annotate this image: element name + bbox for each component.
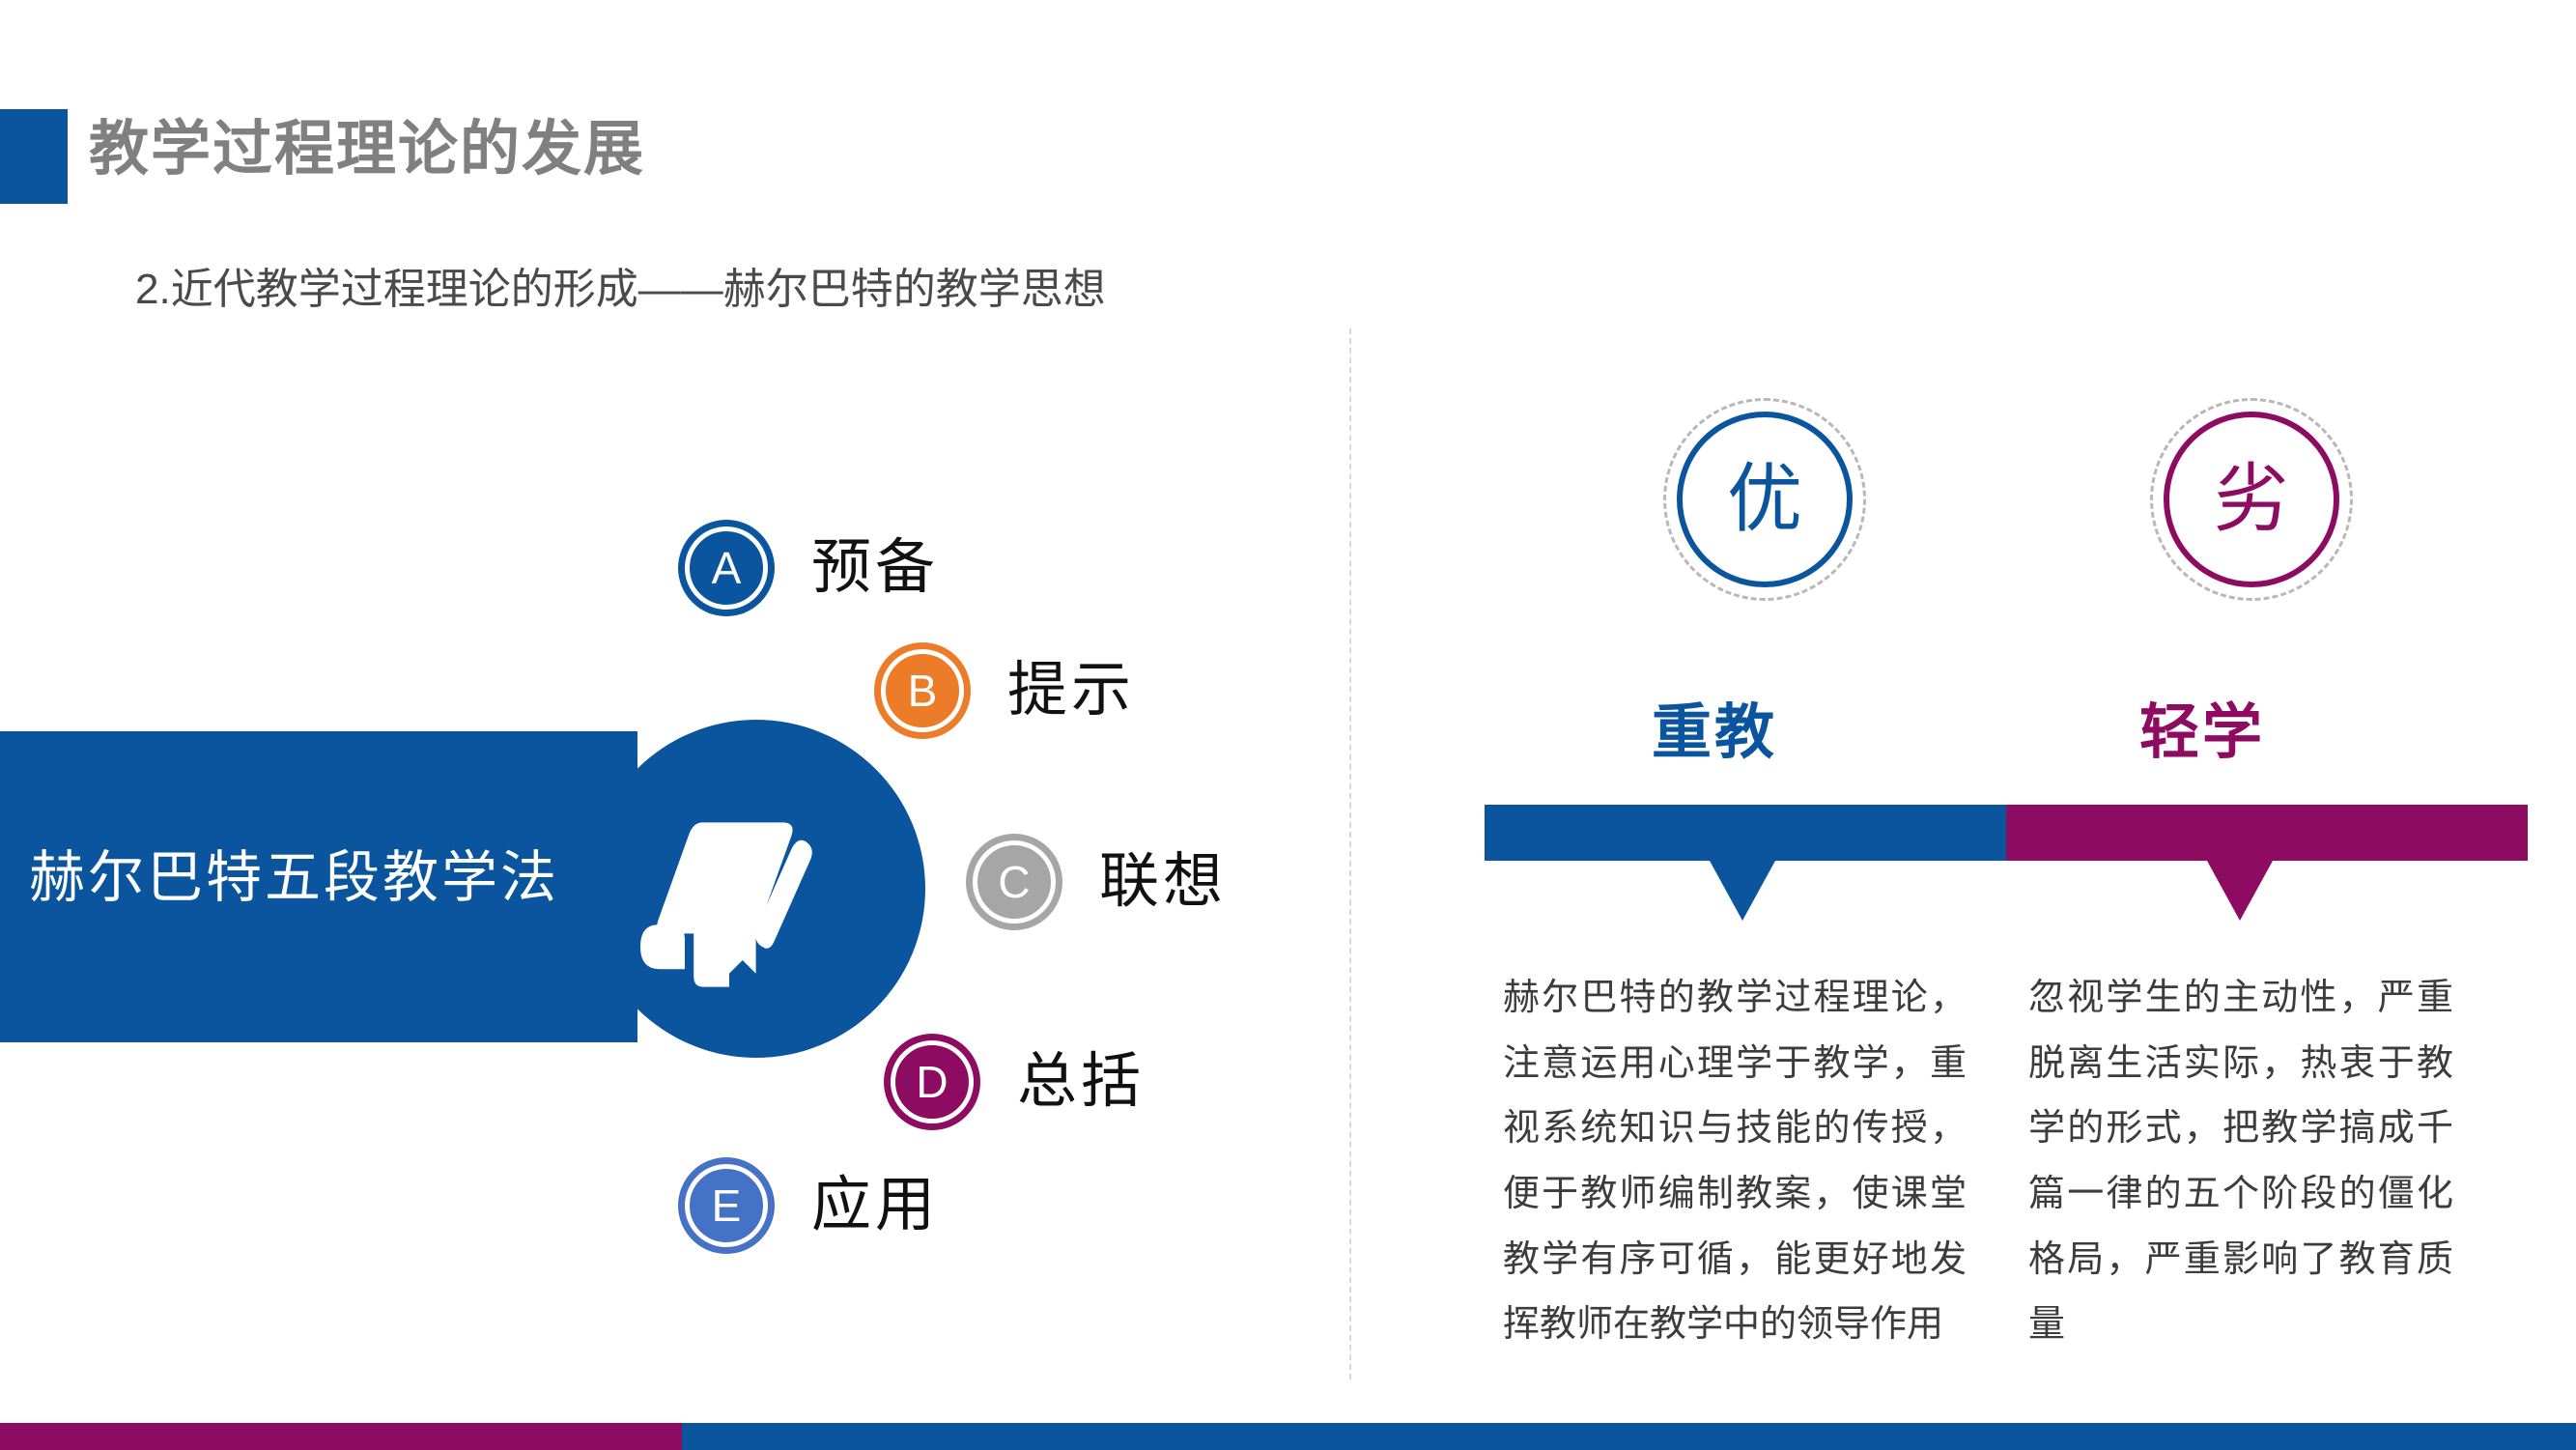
merit-solid-ring: 优 — [1677, 412, 1853, 587]
demerit-mark-劣: 劣 — [2150, 398, 2353, 601]
step-letter-b: B — [908, 668, 938, 713]
step-item-e[interactable]: E 应用 — [678, 1157, 939, 1254]
step-item-a[interactable]: A 预备 — [678, 520, 939, 616]
demerit-mark-char: 劣 — [2214, 462, 2289, 537]
demerit-heading: 轻学 — [2139, 703, 2265, 763]
footer-bar-right — [682, 1423, 2576, 1450]
merit-body-text: 赫尔巴特的教学过程理论，注意运用心理学于教学，重视系统知识与技能的传授，便于教师… — [1503, 966, 1967, 1358]
step-circle-b: B — [874, 642, 971, 739]
vertical-divider — [1349, 328, 1351, 1379]
step-circle-a: A — [678, 520, 775, 616]
step-letter-d: D — [916, 1060, 948, 1104]
step-letter-a: A — [712, 546, 742, 590]
step-circle-e: E — [678, 1157, 775, 1254]
merit-bar-arrow — [1710, 861, 1775, 921]
demerit-solid-ring: 劣 — [2164, 412, 2339, 587]
slide-canvas: 教学过程理论的发展 2.近代教学过程理论的形成——赫尔巴特的教学思想 赫尔巴特五… — [0, 0, 2576, 1450]
merit-mark-char: 优 — [1727, 462, 1802, 537]
title-accent-bar — [0, 109, 68, 204]
page-title: 教学过程理论的发展 — [89, 120, 645, 180]
step-label-e: 应用 — [811, 1176, 939, 1236]
step-item-c[interactable]: C 联想 — [966, 834, 1227, 930]
step-label-d: 总括 — [1017, 1052, 1145, 1112]
page-subtitle: 2.近代教学过程理论的形成——赫尔巴特的教学思想 — [135, 269, 1106, 311]
demerit-bar-arrow — [2207, 861, 2273, 921]
step-letter-c: C — [998, 860, 1030, 904]
step-label-a: 预备 — [811, 538, 939, 598]
merit-heading: 重教 — [1652, 703, 1777, 763]
demerit-body-text: 忽视学生的主动性，严重脱离生活实际，热衷于教学的形式，把教学搞成千篇一律的五个阶… — [2028, 966, 2453, 1358]
book-bookmark-icon — [618, 782, 840, 1005]
demerit-bar — [2006, 805, 2528, 861]
step-item-d[interactable]: D 总括 — [884, 1034, 1145, 1130]
step-label-c: 联想 — [1099, 852, 1227, 912]
merit-bar — [1485, 805, 2006, 861]
step-circle-c: C — [966, 834, 1062, 930]
footer-bar-left — [0, 1423, 682, 1450]
merit-mark-优: 优 — [1663, 398, 1866, 601]
badge-label: 赫尔巴特五段教学法 — [29, 850, 609, 906]
step-circle-d: D — [884, 1034, 980, 1130]
step-label-b: 提示 — [1007, 661, 1135, 721]
step-item-b[interactable]: B 提示 — [874, 642, 1135, 739]
step-letter-e: E — [712, 1183, 742, 1228]
